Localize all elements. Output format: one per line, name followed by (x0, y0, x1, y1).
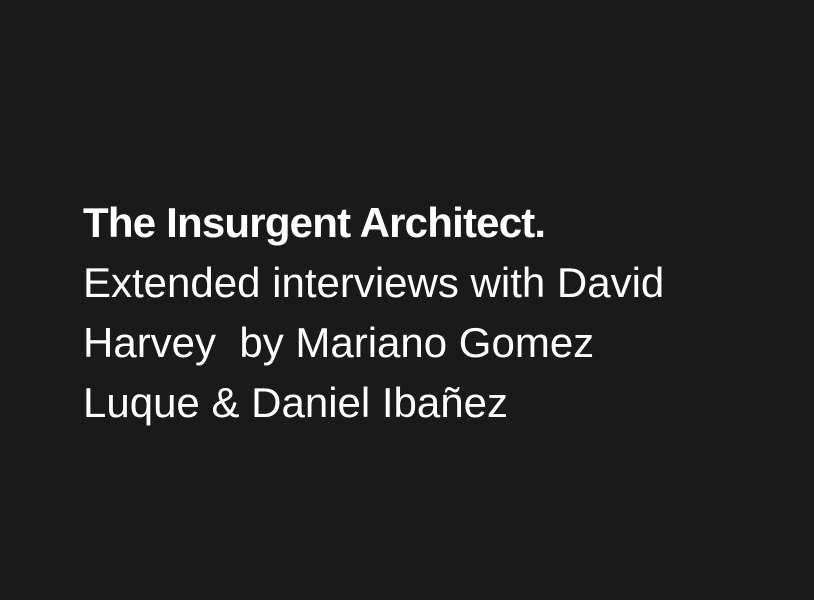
subtitle-line-2: Harvey by Mariano Gomez (83, 313, 783, 373)
subtitle-line-3: Luque & Daniel Ibañez (83, 373, 783, 433)
page-title: The Insurgent Architect. (83, 193, 783, 253)
subtitle-line-1: Extended interviews with David (83, 253, 783, 313)
title-text-block: The Insurgent Architect. Extended interv… (83, 193, 783, 433)
title-card: The Insurgent Architect. Extended interv… (0, 0, 814, 600)
